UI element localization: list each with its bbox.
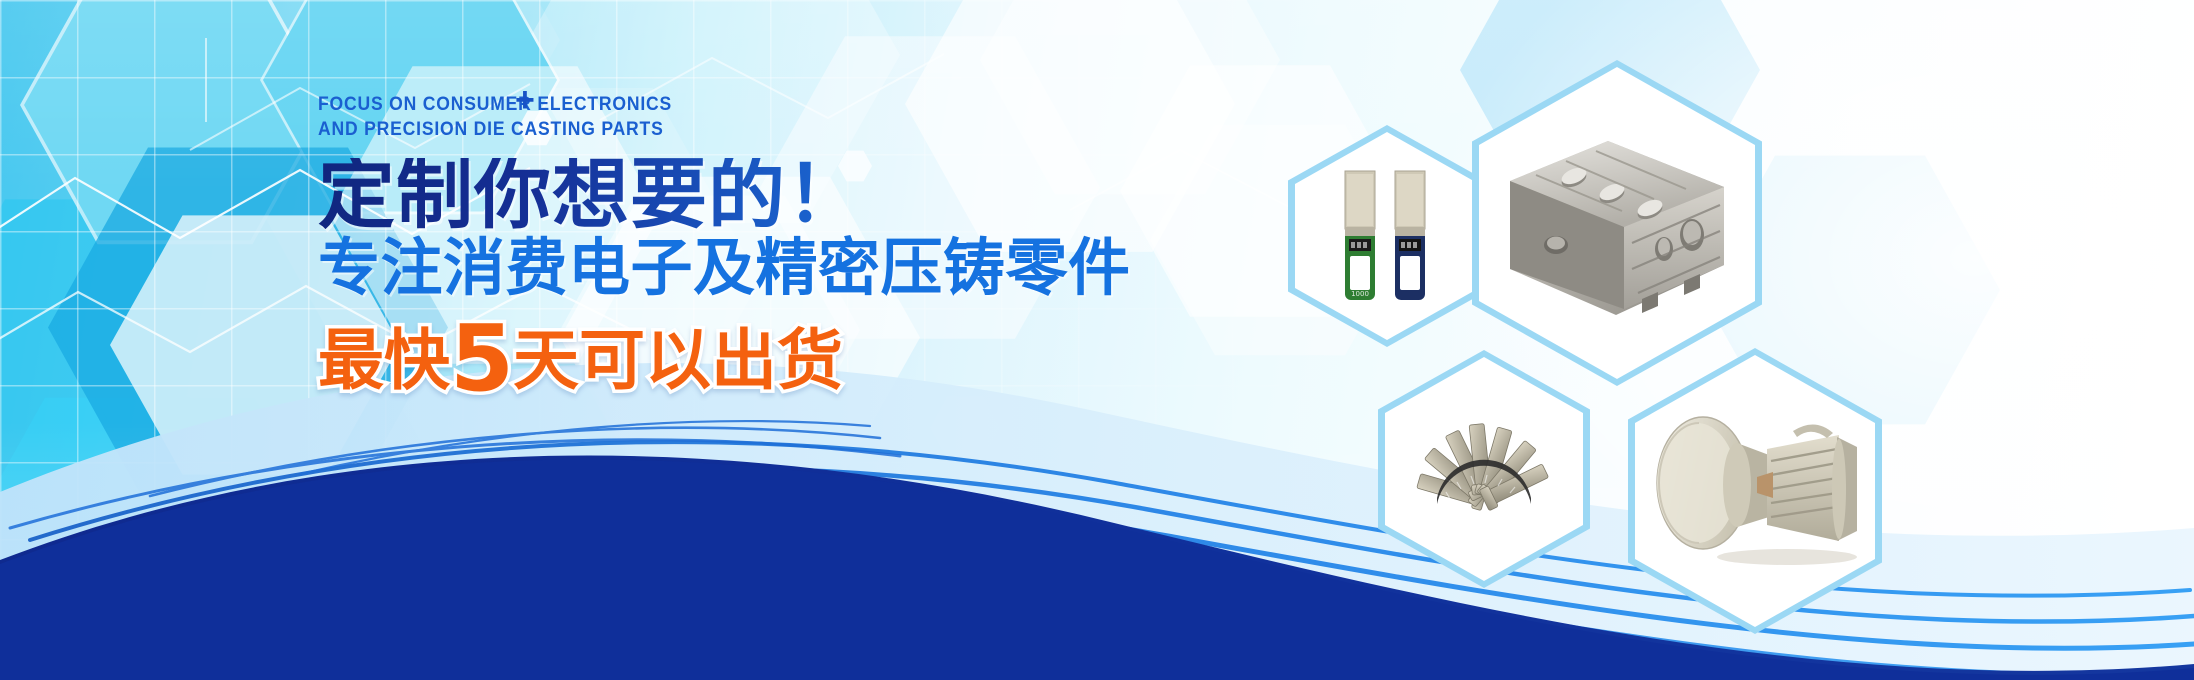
banner-text-block: FOCUS ON CONSUMER ELECTRONICS AND PRECIS… (318, 92, 1298, 405)
die-cast-blade-array-icon (1401, 414, 1567, 524)
promo-prefix: 最快 (318, 322, 450, 399)
promo-text: 最快5天可以出货 (318, 313, 843, 405)
subheadline: 专注消费电子及精密压铸零件 (318, 236, 1298, 299)
promo-suffix: 天可以出货 (513, 322, 843, 399)
promotional-banner: 1000 (0, 0, 2194, 680)
headline: 定制你想要的！ (318, 158, 1298, 234)
optical-transceiver-modules-icon: 1000 (1323, 161, 1451, 311)
plus-icon: + (515, 83, 535, 117)
engine-cylinder-block-icon (1496, 123, 1738, 323)
english-subtitle-line1: FOCUS ON CONSUMER ELECTRONICS (318, 92, 672, 117)
english-subtitle-line2: AND PRECISION DIE CASTING PARTS (318, 117, 672, 142)
promo-number: 5 (450, 305, 513, 412)
industrial-motor-assembly-icon (1647, 405, 1863, 577)
product-image-frame (1635, 355, 1875, 627)
english-subtitle: FOCUS ON CONSUMER ELECTRONICS AND PRECIS… (318, 92, 711, 142)
svg-text:1000: 1000 (1351, 290, 1369, 298)
product-image-frame (1385, 357, 1583, 581)
product-image-frame: 1000 (1295, 132, 1479, 340)
